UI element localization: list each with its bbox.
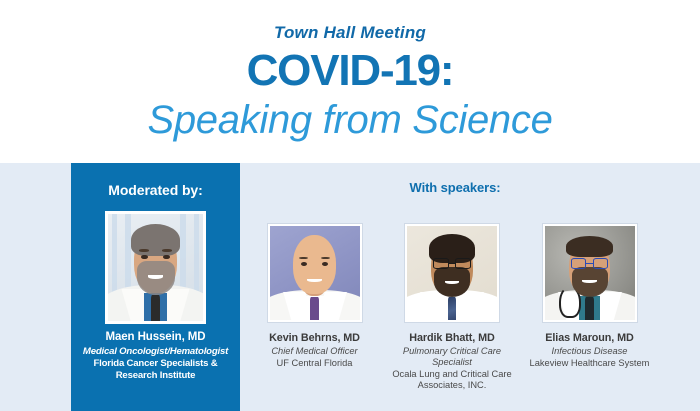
moderator-name: Maen Hussein, MD bbox=[71, 331, 240, 343]
speaker-org: Lakeview Healthcare System bbox=[527, 358, 652, 369]
speaker-role: Pulmonary Critical Care Specialist bbox=[390, 346, 515, 368]
speaker-role: Chief Medical Officer bbox=[252, 346, 377, 357]
poster-canvas: Town Hall Meeting COVID-19: Speaking fro… bbox=[0, 0, 700, 411]
speaker-name: Kevin Behrns, MD bbox=[252, 332, 377, 344]
speaker-org: Ocala Lung and Critical Care Associates,… bbox=[390, 369, 515, 391]
moderator-photo bbox=[105, 211, 206, 324]
speaker-card: Elias Maroun, MD Infectious Disease Lake… bbox=[527, 224, 652, 369]
speaker-card: Kevin Behrns, MD Chief Medical Officer U… bbox=[252, 224, 377, 369]
moderator-role: Medical Oncologist/Hematologist bbox=[71, 346, 240, 357]
speaker-name: Elias Maroun, MD bbox=[527, 332, 652, 344]
speakers-heading: With speakers: bbox=[260, 180, 650, 195]
moderator-org: Florida Cancer Specialists & Research In… bbox=[77, 358, 234, 382]
speaker-role: Infectious Disease bbox=[527, 346, 652, 357]
page-title: COVID-19: bbox=[0, 49, 700, 93]
poster-header: Town Hall Meeting COVID-19: Speaking fro… bbox=[0, 0, 700, 163]
event-kicker: Town Hall Meeting bbox=[0, 23, 700, 43]
speaker-photo bbox=[268, 224, 362, 322]
speaker-card: Hardik Bhatt, MD Pulmonary Critical Care… bbox=[390, 224, 515, 391]
moderator-heading: Moderated by: bbox=[71, 182, 240, 198]
speakers-list: Kevin Behrns, MD Chief Medical Officer U… bbox=[252, 224, 652, 404]
speaker-photo bbox=[543, 224, 637, 322]
moderator-panel: Moderated by: Maen Husse bbox=[71, 163, 240, 411]
speaker-org: UF Central Florida bbox=[252, 358, 377, 369]
page-subtitle: Speaking from Science bbox=[0, 100, 700, 140]
speaker-photo bbox=[405, 224, 499, 322]
speaker-name: Hardik Bhatt, MD bbox=[390, 332, 515, 344]
